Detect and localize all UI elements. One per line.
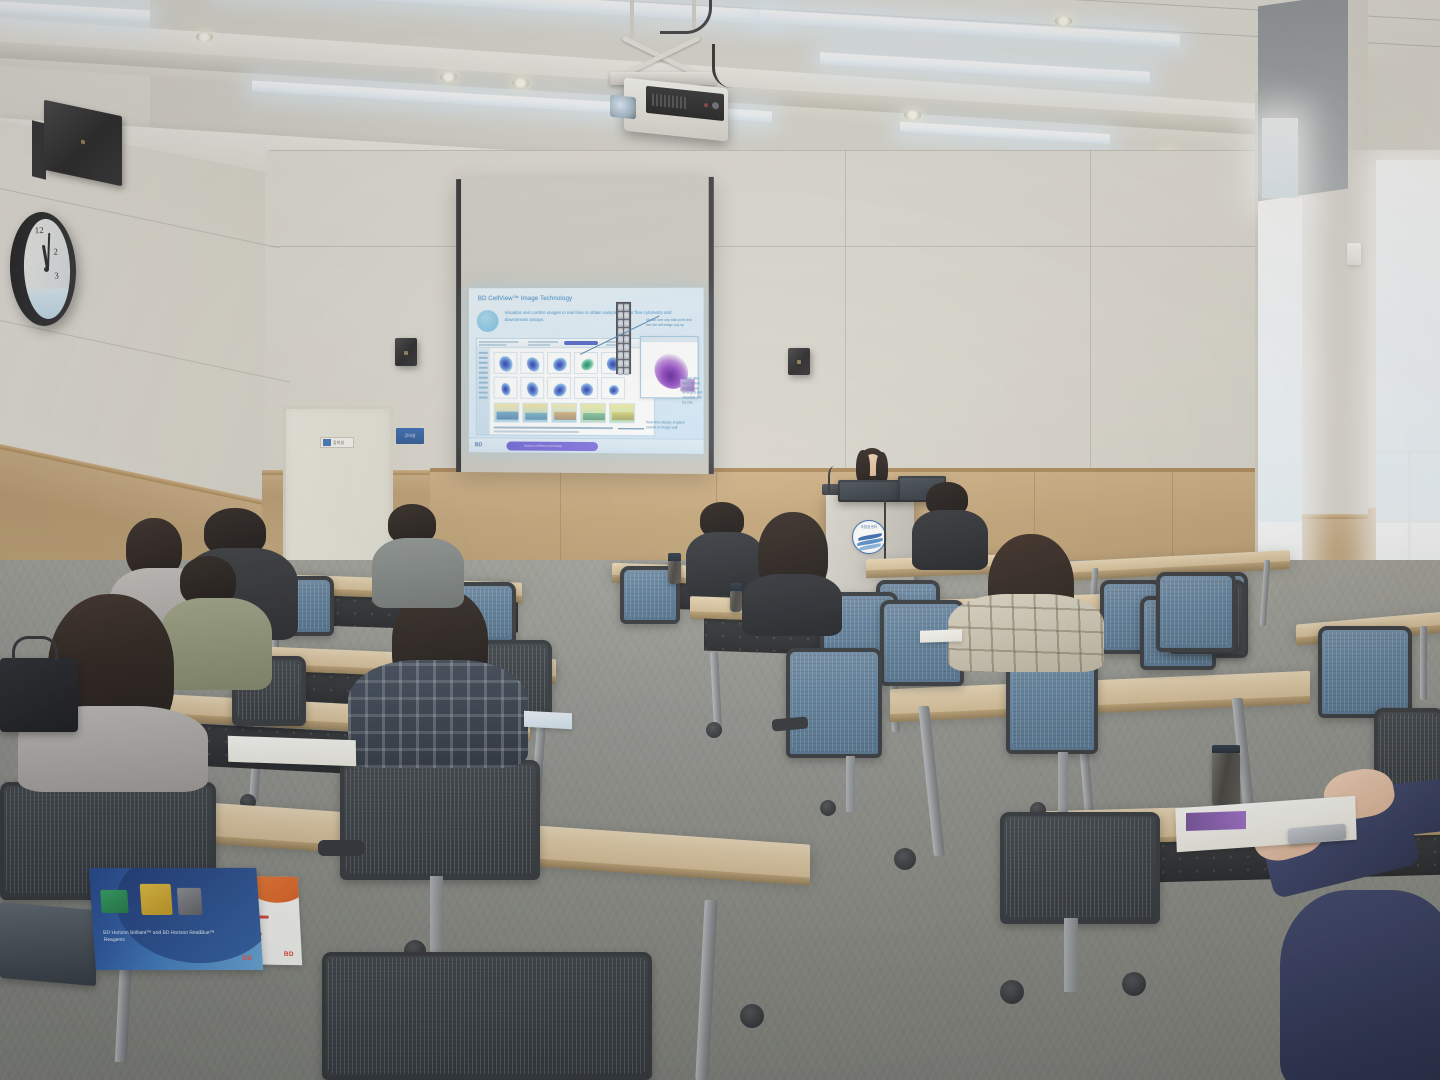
attendee-right-plaid-beige (948, 534, 1104, 666)
door-sign-label: 강의실 (333, 440, 344, 446)
window-upper-right (1262, 118, 1298, 198)
downlight-icon (512, 78, 529, 88)
downlight-icon (440, 72, 457, 82)
chair-rear-right-3[interactable] (1318, 626, 1412, 718)
slide-title: BD CellView™ Image Technology (478, 295, 572, 302)
podium-emblem: 국립암센터 (852, 520, 886, 554)
clock-numeral: 2 (53, 246, 58, 256)
brochure-title: BD Horizon Brilliant™ and BD Horizon Rea… (103, 930, 235, 944)
slide-footer-button[interactable]: Explore CellView technology (506, 441, 598, 451)
wall-speaker-icon (395, 338, 417, 366)
projection-screen: BD CellView™ Image Technology Visualize … (456, 177, 714, 474)
slide-callout-3: Real-time display of gated events on ima… (646, 420, 690, 430)
brochure-brand: BD (284, 951, 294, 958)
wall-sign-label: 강의실 (404, 433, 415, 439)
slide-callout-2: Image data from all flow metrics are arr… (682, 376, 703, 405)
door-sign: 강의실 (320, 437, 354, 448)
slide-footer: BD Explore CellView technology (469, 437, 704, 454)
presenter-laptop[interactable] (838, 480, 900, 502)
bd-logo: BD (475, 442, 483, 448)
chair-foreground-bottom[interactable] (322, 952, 652, 1080)
wall-speaker-icon (788, 348, 810, 375)
podium-cable (884, 500, 886, 560)
slide-callout-1: Mouse over any data point and see the ce… (646, 318, 694, 328)
water-bottle-right (1212, 752, 1240, 806)
wall-room-sign: 강의실 (396, 428, 424, 444)
podium-emblem-text: 국립암센터 (853, 525, 885, 530)
attendee-torso (1280, 890, 1440, 1080)
slide-footer-button-label: Explore CellView technology (524, 444, 562, 448)
chair-foreground-left-1[interactable] (340, 760, 540, 880)
chair-foreground-right-1[interactable] (1000, 812, 1160, 924)
handout-table-right (920, 629, 962, 642)
slide-icon-circle (477, 310, 499, 332)
clock-numeral: 3 (54, 270, 59, 280)
presenter-hair-front (856, 450, 870, 484)
clock-minute-hand (47, 233, 50, 269)
attendee-center-navy (372, 504, 464, 604)
water-bottle-row3 (730, 590, 742, 612)
handout-color-band (1186, 811, 1246, 831)
attendee-center-longhair (742, 512, 842, 632)
handout-center (524, 711, 572, 730)
podium-microphone (828, 466, 844, 492)
chair-mid-center-1[interactable] (786, 648, 882, 758)
brochure-front: BD Horizon Brilliant™ and BD Horizon Rea… (89, 868, 264, 970)
brochure-brand: BD (242, 955, 252, 962)
downlight-icon (196, 32, 213, 42)
handbag (0, 658, 78, 732)
slide-cell-image-grid (616, 302, 631, 374)
attendee-plaid-torso (348, 660, 528, 768)
chair-right-window-1[interactable] (1156, 572, 1236, 652)
projected-slide: BD CellView™ Image Technology Visualize … (469, 288, 704, 454)
downlight-icon (1055, 16, 1072, 26)
tablet-device[interactable] (0, 902, 96, 986)
attendee-beige-plaid-torso (948, 594, 1104, 672)
clock-numeral: 12 (34, 225, 43, 235)
downlight-icon (904, 110, 921, 120)
lecture-hall-scene: 12 2 3 BD CellView™ Image Technology Vis… (0, 0, 1440, 1080)
water-bottle-center (668, 560, 681, 584)
attendee-left-plaid (348, 588, 528, 768)
handout-left (228, 736, 356, 766)
